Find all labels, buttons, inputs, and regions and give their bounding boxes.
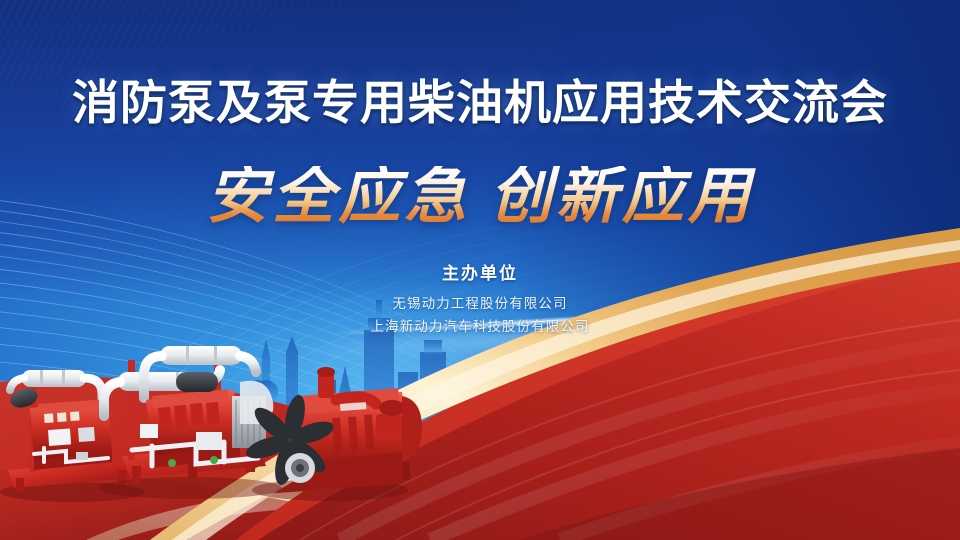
diesel-engine-with-fan — [243, 367, 422, 501]
page-title: 消防泵及泵专用柴油机应用技术交流会 — [0, 78, 960, 129]
host-label: 主办单位 — [0, 259, 960, 284]
slogan-calligraphy: 安全应急 创新应用 — [0, 166, 960, 228]
host-organization-2: 上海新动力汽车科技股份有限公司 — [0, 315, 960, 335]
host-organization-1: 无锡动力工程股份有限公司 — [0, 292, 960, 312]
conference-banner: 消防泵及泵专用柴油机应用技术交流会 安全应急 创新应用 主办单位 无锡动力工程股… — [0, 0, 960, 540]
